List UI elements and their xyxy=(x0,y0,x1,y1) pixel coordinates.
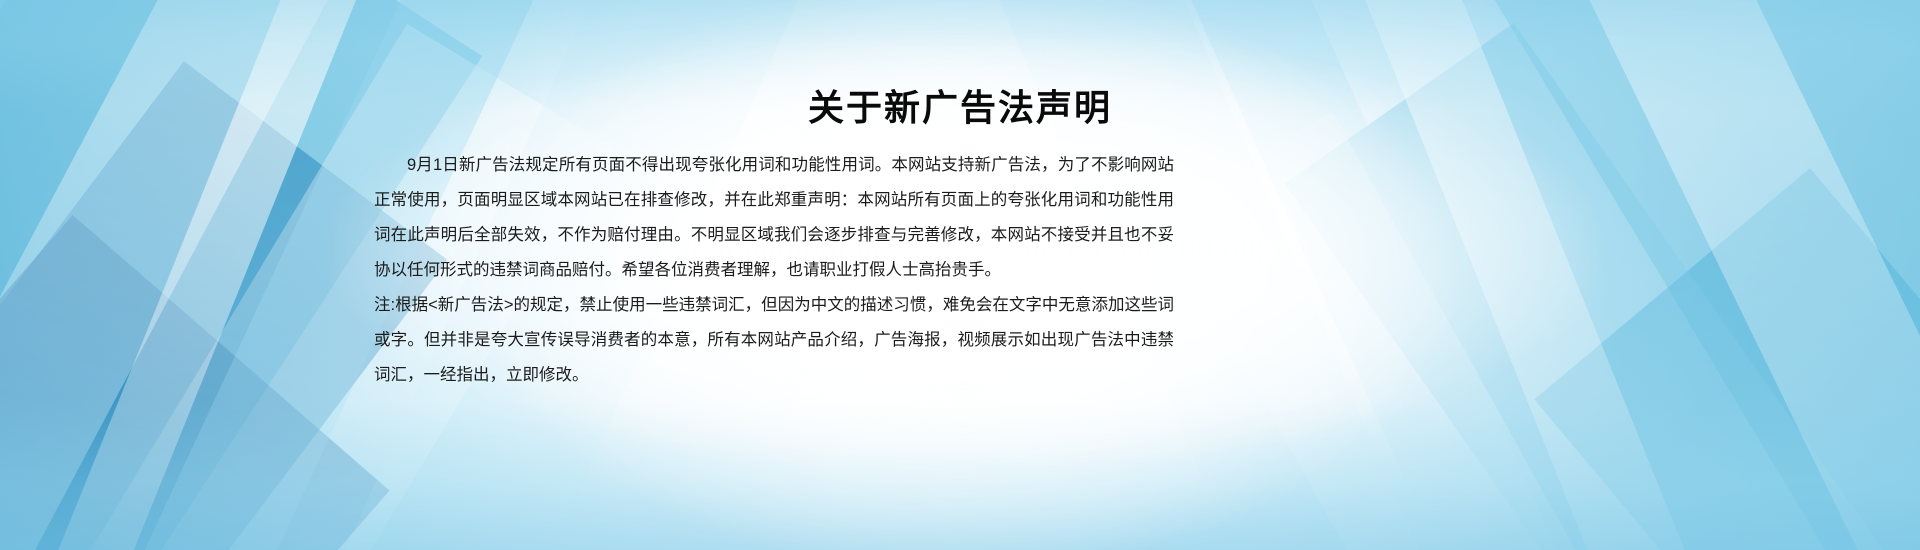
page-title: 关于新广告法声明 xyxy=(0,86,1920,129)
announcement-banner: 关于新广告法声明 9月1日新广告法规定所有页面不得出现夸张化用词和功能性用词。本… xyxy=(0,0,1920,550)
statement-paragraph-note: 注:根据<新广告法>的规定，禁止使用一些违禁词汇，但因为中文的描述习惯，难免会在… xyxy=(374,288,1174,393)
statement-paragraph-main: 9月1日新广告法规定所有页面不得出现夸张化用词和功能性用词。本网站支持新广告法，… xyxy=(374,148,1174,288)
announcement-content: 关于新广告法声明 9月1日新广告法规定所有页面不得出现夸张化用词和功能性用词。本… xyxy=(0,0,1920,550)
statement-body: 9月1日新广告法规定所有页面不得出现夸张化用词和功能性用词。本网站支持新广告法，… xyxy=(374,148,1174,393)
